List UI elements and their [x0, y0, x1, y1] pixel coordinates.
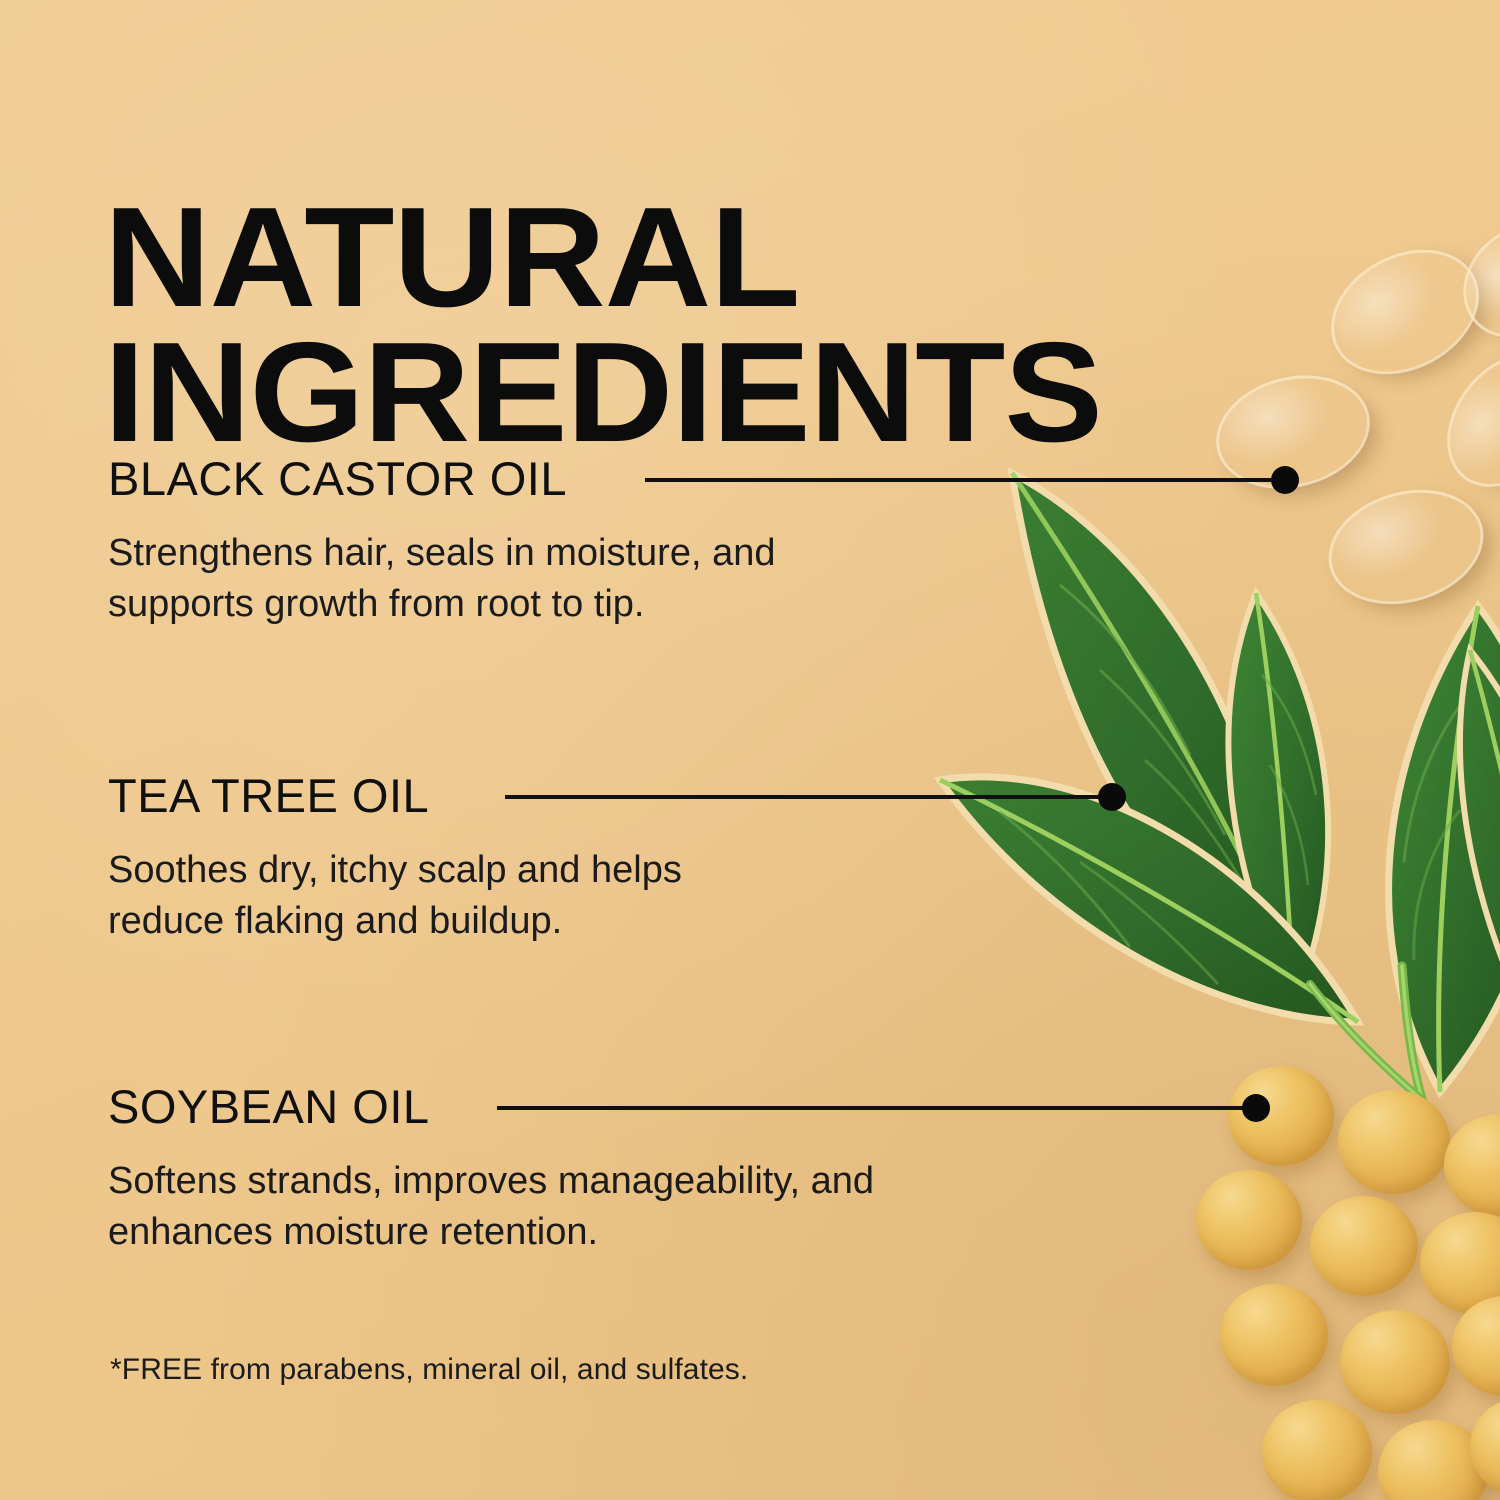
ingredient-black-castor-oil: BLACK CASTOR OIL Strengthens hair, seals… [108, 455, 776, 630]
description-line-1: Softens strands, improves manageability,… [108, 1156, 874, 1207]
title-line-1: NATURAL [104, 191, 1269, 326]
ingredient-description: Soothes dry, itchy scalp and helps reduc… [108, 845, 682, 947]
description-line-1: Soothes dry, itchy scalp and helps [108, 845, 682, 896]
ingredient-description: Strengthens hair, seals in moisture, and… [108, 528, 776, 630]
description-line-1: Strengthens hair, seals in moisture, and [108, 528, 776, 579]
ingredient-heading: BLACK CASTOR OIL [108, 455, 776, 502]
ingredient-heading: TEA TREE OIL [108, 772, 682, 819]
text-content: NATURAL INGREDIENTS BLACK CASTOR OIL Str… [0, 0, 1500, 1500]
description-line-2: enhances moisture retention. [108, 1207, 874, 1258]
ingredient-tea-tree-oil: TEA TREE OIL Soothes dry, itchy scalp an… [108, 772, 682, 947]
description-line-2: reduce flaking and buildup. [108, 896, 682, 947]
title-line-2: INGREDIENTS [104, 326, 1269, 461]
ingredients-infographic: NATURAL INGREDIENTS BLACK CASTOR OIL Str… [0, 0, 1500, 1500]
ingredient-heading: SOYBEAN OIL [108, 1083, 874, 1130]
free-from-footnote: *FREE from parabens, mineral oil, and su… [110, 1353, 748, 1387]
page-title: NATURAL INGREDIENTS [104, 191, 1269, 461]
description-line-2: supports growth from root to tip. [108, 579, 776, 630]
ingredient-soybean-oil: SOYBEAN OIL Softens strands, improves ma… [108, 1083, 874, 1258]
ingredient-description: Softens strands, improves manageability,… [108, 1156, 874, 1258]
